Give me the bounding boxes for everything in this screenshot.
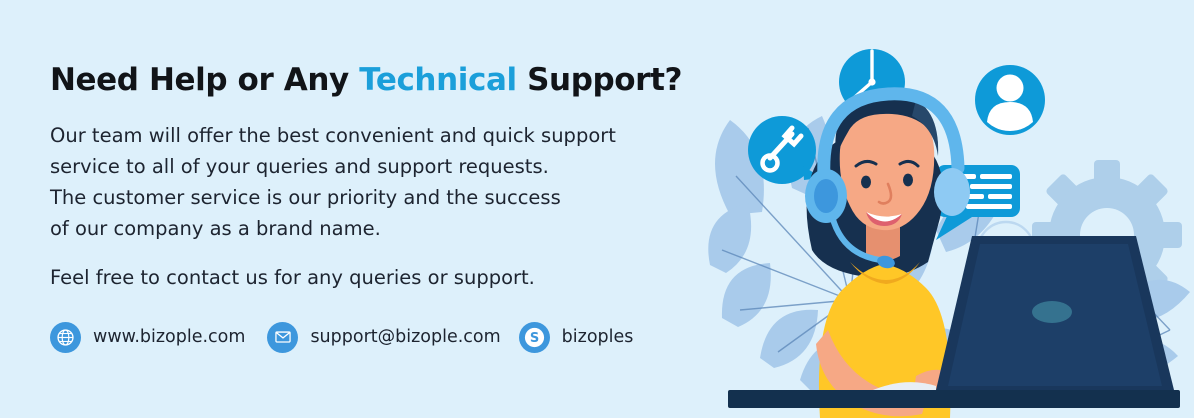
description-paragraph: Our team will offer the best convenient … [50, 120, 730, 244]
contact-label-email: support@bizople.com [310, 327, 500, 347]
contact-item-email[interactable]: support@bizople.com [267, 320, 500, 354]
page-title: Need Help or Any Technical Support? [50, 62, 682, 98]
headline-accent-word: Technical [359, 62, 517, 98]
svg-text:S: S [529, 331, 538, 346]
paragraph-line-2: service to all of your queries and suppo… [50, 151, 730, 182]
desk [728, 390, 1180, 408]
skype-icon: S [519, 322, 550, 353]
globe-icon [50, 322, 81, 353]
contact-label-website: www.bizople.com [93, 327, 245, 347]
contact-item-website[interactable]: www.bizople.com [50, 320, 245, 354]
contact-item-skype[interactable]: S bizoples [519, 320, 634, 354]
paragraph-line-1: Our team will offer the best convenient … [50, 120, 730, 151]
contact-label-skype: bizoples [562, 327, 634, 347]
illustration-svg [700, 0, 1194, 418]
envelope-icon [267, 322, 298, 353]
paragraph-line-3: The customer service is our priority and… [50, 182, 730, 213]
user-avatar-icon [975, 65, 1045, 135]
contact-row: www.bizople.com support@bizople.com [50, 320, 633, 354]
banner-content: Need Help or Any Technical Support? Our … [50, 0, 740, 418]
paragraph-line-4: of our company as a brand name. [50, 213, 730, 244]
headline-part1: Need Help or Any [50, 62, 359, 98]
support-illustration [700, 0, 1194, 418]
tagline-text: Feel free to contact us for any queries … [50, 262, 535, 293]
support-banner: Need Help or Any Technical Support? Our … [0, 0, 1194, 418]
headline-part2: Support? [517, 62, 682, 98]
